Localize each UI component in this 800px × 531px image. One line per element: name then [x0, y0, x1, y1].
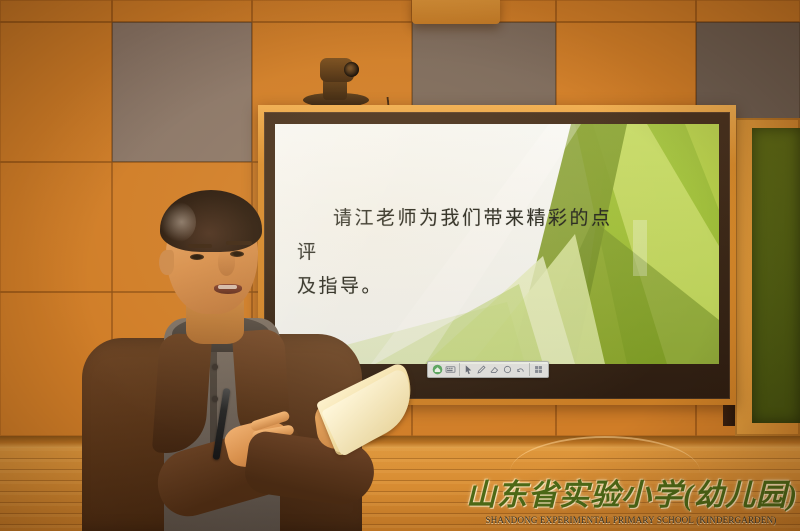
keyboard-icon[interactable]: [445, 364, 456, 375]
shirt-button: [212, 396, 218, 402]
toolbar-group: [429, 363, 460, 376]
wall-panel: [696, 0, 800, 22]
ear: [159, 250, 174, 275]
eye-left: [190, 254, 204, 260]
more-options-icon[interactable]: [533, 364, 544, 375]
home-icon[interactable]: [432, 364, 443, 375]
cursor-select-icon[interactable]: [463, 364, 474, 375]
wall-panel: [556, 0, 696, 22]
wall-panel: [112, 0, 252, 22]
camera-lens-icon: [344, 62, 359, 77]
ceiling-speaker-box: [412, 0, 500, 24]
undo-icon[interactable]: [515, 364, 526, 375]
nose: [218, 250, 235, 276]
photo-scene: 请江老师为我们带来精彩的点评 及指导。: [0, 0, 800, 531]
toolbar-group: [460, 363, 530, 376]
wall-panel: [0, 22, 112, 162]
whiteboard-toolbar[interactable]: [427, 361, 549, 378]
shirt-button: [212, 364, 218, 370]
teeth: [218, 285, 237, 289]
toolbar-group: [530, 363, 547, 376]
presenter: [60, 188, 390, 531]
wall-panel: [252, 0, 412, 22]
eyebrow-left: [188, 244, 212, 248]
wall-panel-gray: [112, 22, 252, 162]
wall-panel: [0, 0, 112, 22]
eraser-icon[interactable]: [489, 364, 500, 375]
hair-grey-highlight: [160, 202, 196, 242]
green-chalkboard: [752, 128, 800, 423]
eyebrow-right: [226, 241, 252, 245]
pen-icon[interactable]: [476, 364, 487, 375]
panel-seam: [0, 21, 800, 23]
shapes-icon[interactable]: [502, 364, 513, 375]
